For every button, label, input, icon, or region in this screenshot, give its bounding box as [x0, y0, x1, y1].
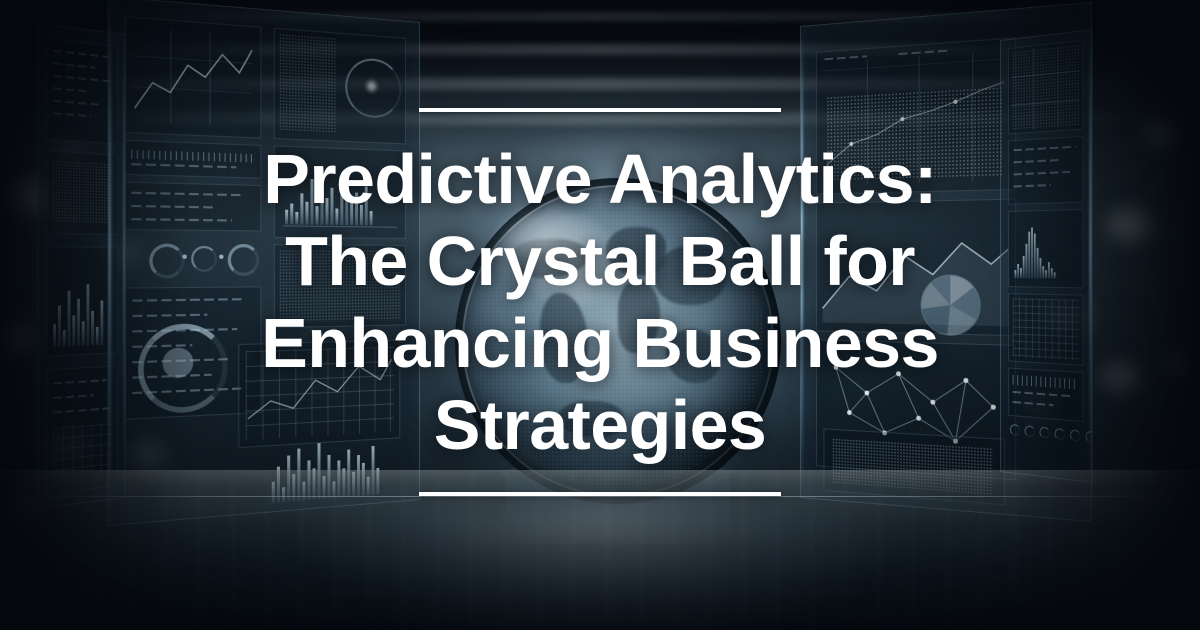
divider-rule-top — [419, 108, 781, 112]
hero-title-block: Predictive Analytics: The Crystal Ball f… — [0, 108, 1200, 496]
page-title: Predictive Analytics: The Crystal Ball f… — [261, 138, 939, 466]
divider-rule-bottom — [419, 492, 781, 496]
hero-banner: Predictive Analytics: The Crystal Ball f… — [0, 0, 1200, 630]
